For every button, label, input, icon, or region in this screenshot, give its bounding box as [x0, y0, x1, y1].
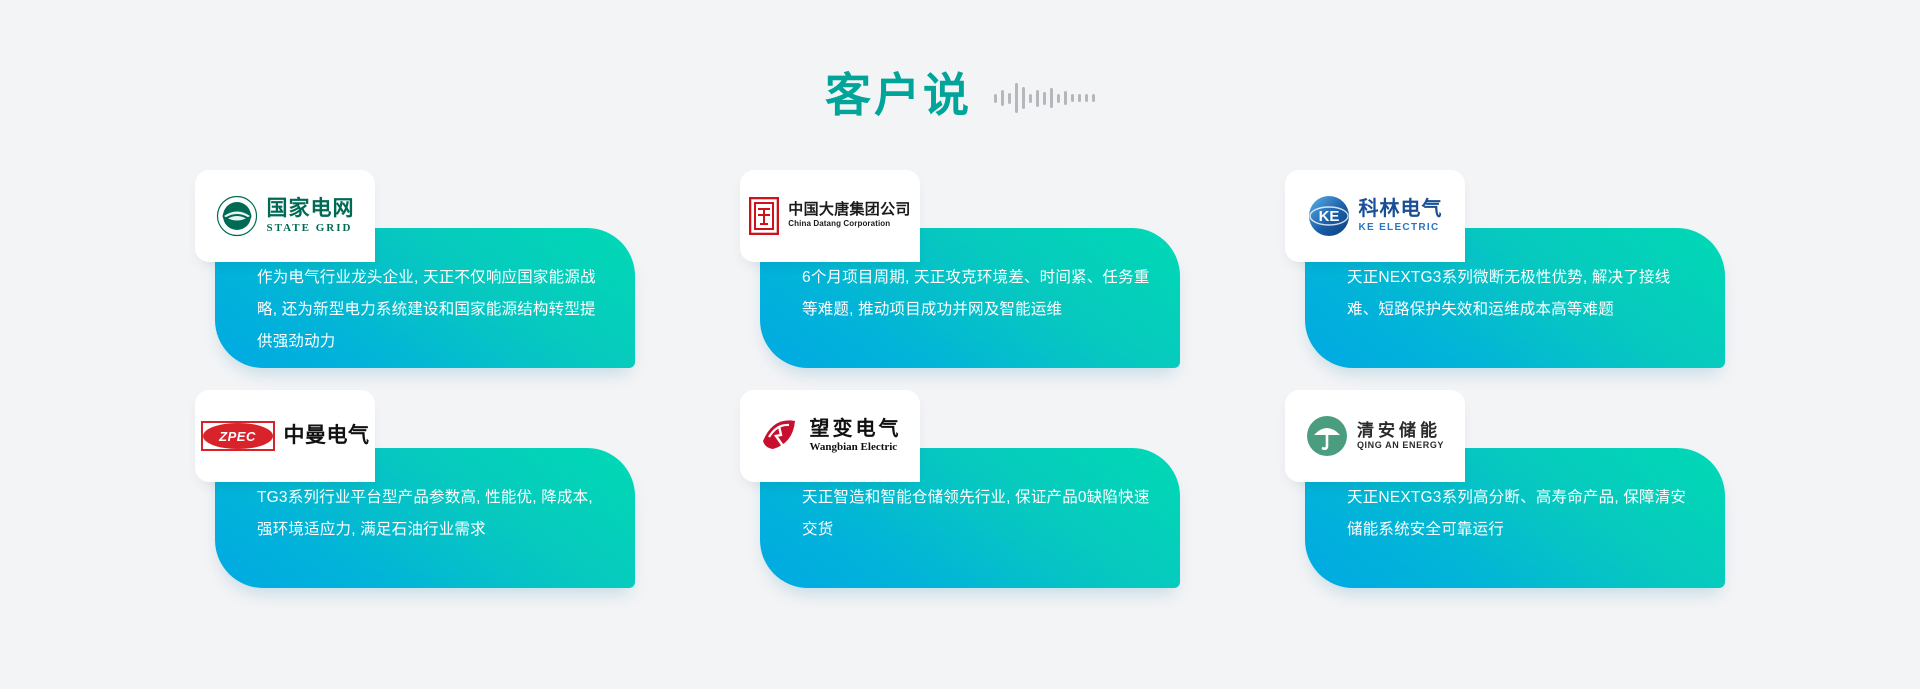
- audio-waveform-icon: [994, 71, 1095, 119]
- company-name-cn: 中国大唐集团公司: [788, 202, 910, 219]
- waveform-bar-8: [1050, 88, 1053, 108]
- waveform-bar-7: [1043, 92, 1046, 105]
- waveform-bar-9: [1057, 94, 1060, 103]
- waveform-bar-0: [994, 94, 997, 103]
- company-logo-wordmark: 科林电气KE ELECTRIC: [1359, 198, 1443, 233]
- company-name-en: China Datang Corporation: [788, 219, 910, 229]
- company-name-cn: 中曼电气: [284, 424, 370, 448]
- waveform-bar-10: [1064, 91, 1067, 105]
- company-logo-plate: 国家电网STATE GRID: [195, 170, 375, 262]
- testimonial-quote: 6个月项目周期, 天正攻克环境差、时间紧、任务重等难题, 推动项目成功并网及智能…: [802, 262, 1150, 326]
- waveform-bar-3: [1015, 83, 1018, 113]
- testimonial-card[interactable]: TG3系列行业平台型产品参数高, 性能优, 降成本, 强环境适应力, 满足石油行…: [195, 390, 635, 590]
- zpec-oval-icon: ZPEC: [201, 421, 275, 451]
- company-logo-plate: 望变电气Wangbian Electric: [740, 390, 920, 482]
- company-name-en: Wangbian Electric: [810, 440, 902, 454]
- testimonial-card[interactable]: 天正NEXTG3系列微断无极性优势, 解决了接线难、短路保护失效和运维成本高等难…: [1285, 170, 1725, 370]
- company-logo-wordmark: 清安储能QING AN ENERGY: [1357, 421, 1444, 452]
- company-logo-plate: 中国大唐集团公司China Datang Corporation: [740, 170, 920, 262]
- testimonial-card[interactable]: 作为电气行业龙头企业, 天正不仅响应国家能源战略, 还为新型电力系统建设和国家能…: [195, 170, 635, 370]
- state-grid-globe-icon: [216, 195, 258, 237]
- waveform-bar-11: [1071, 94, 1074, 102]
- testimonial-quote: 作为电气行业龙头企业, 天正不仅响应国家能源战略, 还为新型电力系统建设和国家能…: [257, 262, 605, 358]
- company-logo-plate: 清安储能QING AN ENERGY: [1285, 390, 1465, 482]
- qingan-umbrella-circle-icon: [1306, 415, 1348, 457]
- ke-electric-circle-icon: KE: [1308, 195, 1350, 237]
- waveform-bar-13: [1085, 94, 1088, 102]
- waveform-bar-14: [1092, 94, 1095, 102]
- wangbian-swoosh-icon: [759, 415, 801, 457]
- company-logo-wordmark: 中曼电气: [284, 424, 370, 448]
- company-name-en: STATE GRID: [267, 221, 355, 235]
- waveform-bar-6: [1036, 90, 1039, 107]
- testimonial-quote: 天正NEXTG3系列微断无极性优势, 解决了接线难、短路保护失效和运维成本高等难…: [1347, 262, 1695, 326]
- waveform-bar-5: [1029, 94, 1032, 103]
- svg-text:KE: KE: [1318, 208, 1339, 225]
- company-name-en: KE ELECTRIC: [1359, 221, 1443, 234]
- company-logo-wordmark: 望变电气Wangbian Electric: [810, 418, 902, 455]
- waveform-bar-12: [1078, 94, 1081, 102]
- company-logo-plate: ZPEC中曼电气: [195, 390, 375, 482]
- testimonial-quote: 天正NEXTG3系列高分断、高寿命产品, 保障清安储能系统安全可靠运行: [1347, 482, 1695, 546]
- page-title: 客户说: [825, 72, 972, 118]
- company-logo-wordmark: 中国大唐集团公司China Datang Corporation: [788, 202, 910, 229]
- company-logo-plate: KE科林电气KE ELECTRIC: [1285, 170, 1465, 262]
- company-name-en: QING AN ENERGY: [1357, 440, 1444, 452]
- company-name-cn: 望变电气: [810, 418, 902, 440]
- section-header: 客户说: [0, 60, 1920, 130]
- testimonial-card[interactable]: 6个月项目周期, 天正攻克环境差、时间紧、任务重等难题, 推动项目成功并网及智能…: [740, 170, 1180, 370]
- waveform-bar-1: [1001, 90, 1004, 106]
- testimonial-card[interactable]: 天正智造和智能仓储领先行业, 保证产品0缺陷快速交货望变电气Wangbian E…: [740, 390, 1180, 590]
- company-logo-wordmark: 国家电网STATE GRID: [267, 197, 355, 235]
- testimonials-grid: 作为电气行业龙头企业, 天正不仅响应国家能源战略, 还为新型电力系统建设和国家能…: [0, 170, 1920, 630]
- company-name-cn: 清安储能: [1357, 421, 1444, 440]
- waveform-bar-2: [1008, 93, 1011, 104]
- testimonial-quote: TG3系列行业平台型产品参数高, 性能优, 降成本, 强环境适应力, 满足石油行…: [257, 482, 605, 546]
- testimonial-quote: 天正智造和智能仓储领先行业, 保证产品0缺陷快速交货: [802, 482, 1150, 546]
- company-name-cn: 国家电网: [267, 197, 355, 221]
- company-name-cn: 科林电气: [1359, 198, 1443, 220]
- testimonial-card[interactable]: 天正NEXTG3系列高分断、高寿命产品, 保障清安储能系统安全可靠运行清安储能Q…: [1285, 390, 1725, 590]
- waveform-bar-4: [1022, 87, 1025, 109]
- datang-seal-icon: [749, 197, 779, 235]
